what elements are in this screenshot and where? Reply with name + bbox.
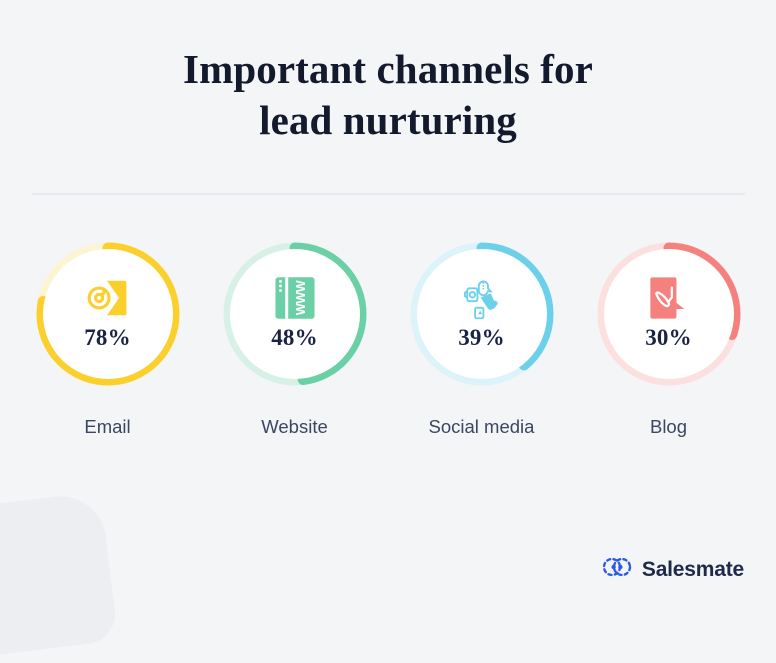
donut-value-website: 48% xyxy=(271,325,318,351)
header-divider xyxy=(32,193,745,195)
donut-gauge-website: WWW 48% xyxy=(219,238,371,390)
brand-name: Salesmate xyxy=(642,558,744,582)
brand-logo: Salesmate xyxy=(601,557,744,582)
donut-center-social-media: 39% xyxy=(417,249,547,379)
infographic-page: Important channels for lead nurturing xyxy=(0,0,776,608)
donut-value-email: 78% xyxy=(84,325,131,351)
channel-card-website: WWW 48% Website xyxy=(216,238,373,438)
donut-chart-group: 78% Email xyxy=(0,238,776,438)
donut-center-email: 78% xyxy=(43,249,173,379)
channel-label-website: Website xyxy=(261,416,328,438)
decorative-blob xyxy=(0,491,118,663)
channel-card-blog: 30% Blog xyxy=(590,238,747,438)
svg-text:WWW: WWW xyxy=(293,280,307,315)
page-title: Important channels for lead nurturing xyxy=(0,0,776,146)
email-at-envelope-icon xyxy=(85,277,131,319)
browser-www-icon: WWW xyxy=(272,277,318,319)
social-megaphone-icon xyxy=(459,277,505,319)
donut-value-social-media: 39% xyxy=(458,325,505,351)
donut-center-blog: 30% xyxy=(604,249,734,379)
channel-label-social-media: Social media xyxy=(429,416,535,438)
donut-gauge-email: 78% xyxy=(32,238,184,390)
blog-pen-speech-bubble-icon xyxy=(646,277,692,319)
channel-card-social-media: 39% Social media xyxy=(403,238,560,438)
salesmate-logo-icon xyxy=(601,557,633,582)
channel-label-email: Email xyxy=(84,416,130,438)
channel-card-email: 78% Email xyxy=(29,238,186,438)
donut-gauge-social-media: 39% xyxy=(406,238,558,390)
donut-center-website: WWW 48% xyxy=(230,249,360,379)
donut-value-blog: 30% xyxy=(645,325,692,351)
channel-label-blog: Blog xyxy=(650,416,687,438)
donut-gauge-blog: 30% xyxy=(593,238,745,390)
